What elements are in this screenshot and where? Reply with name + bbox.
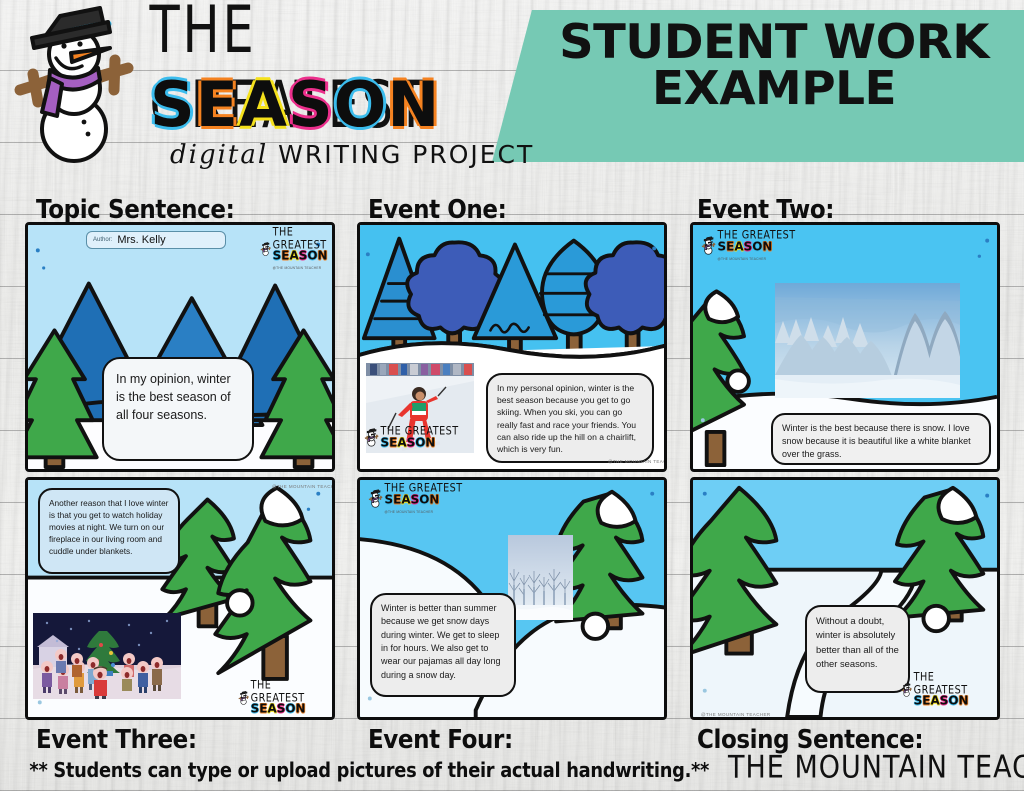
footer-brand: THE MOUNTAIN TEACHER: [728, 750, 1024, 786]
slide-event-four[interactable]: THE GREATEST SEASON @THE MOUNTAIN TEACHE…: [357, 477, 667, 720]
logo-letter-n: N: [387, 68, 440, 141]
event-two-textbox[interactable]: Winter is the best because there is snow…: [771, 413, 991, 465]
banner-title: STUDENT WORK EXAMPLE: [529, 20, 1019, 111]
author-label: Author:: [93, 237, 112, 243]
logo-letter-o: O: [334, 68, 388, 141]
slide-credit: @THE MOUNTAIN TEACHER: [701, 712, 771, 717]
slide-event-one[interactable]: THE GREATEST SEASON In my personal opini…: [357, 222, 667, 472]
slide-credit: @THE MOUNTAIN TEACHER: [608, 459, 667, 464]
page-header: STUDENT WORK EXAMPLE: [0, 0, 1024, 190]
logo-letter-e: E: [196, 68, 239, 141]
logo-subtitle-script: digital: [170, 140, 268, 170]
logo-letter-s1: S: [150, 68, 196, 141]
slide-event-two[interactable]: THE GREATEST SEASON @THE MOUNTAIN TEACHE…: [690, 222, 1000, 472]
label-event-three: Event Three:: [36, 725, 197, 754]
banner-line-2: EXAMPLE: [529, 66, 1019, 111]
label-event-one: Event One:: [368, 195, 506, 224]
author-field[interactable]: Author: Mrs. Kelly: [86, 231, 226, 249]
logo-subtitle-rest: WRITING PROJECT: [278, 140, 534, 169]
label-event-four: Event Four:: [368, 725, 513, 754]
footer-note: ** Students can type or upload pictures …: [29, 759, 709, 783]
slide-closing-sentence[interactable]: @THE MOUNTAIN TEACHER Without a doubt, w…: [690, 477, 1000, 720]
snowy-forest-photo: [775, 283, 960, 398]
slide-topic-sentence[interactable]: Author: Mrs. Kelly THE GREATEST SEASON @…: [25, 222, 335, 472]
logo-letter-s2: S: [288, 68, 334, 141]
slide-event-three[interactable]: @THE MOUNTAIN TEACHER Another reason tha…: [25, 477, 335, 720]
logo-subtitle: digital WRITING PROJECT: [170, 140, 534, 170]
topic-sentence-textbox[interactable]: In my opinion, winter is the best season…: [102, 357, 254, 461]
snowman-icon: [8, 4, 140, 166]
event-one-textbox[interactable]: In my personal opinion, winter is the be…: [486, 373, 654, 463]
holiday-movie-photo: [33, 613, 181, 699]
event-four-textbox[interactable]: Winter is better than summer because we …: [370, 593, 516, 697]
label-event-two: Event Two:: [697, 195, 834, 224]
slide-credit: @THE MOUNTAIN TEACHER: [272, 484, 335, 489]
logo-letter-a: A: [239, 68, 288, 141]
logo-season-word: SEASON: [150, 68, 440, 141]
author-value: Mrs. Kelly: [117, 234, 165, 246]
label-topic-sentence: Topic Sentence:: [36, 195, 234, 224]
skier-photo: [366, 363, 474, 453]
event-three-textbox[interactable]: Another reason that I love winter is tha…: [38, 488, 180, 574]
brand-logo: THE GREATEST SEASON digital WRITING PROJ…: [0, 0, 520, 190]
closing-sentence-textbox[interactable]: Without a doubt, winter is absolutely be…: [805, 605, 910, 693]
winter-trees-photo: [508, 535, 573, 620]
